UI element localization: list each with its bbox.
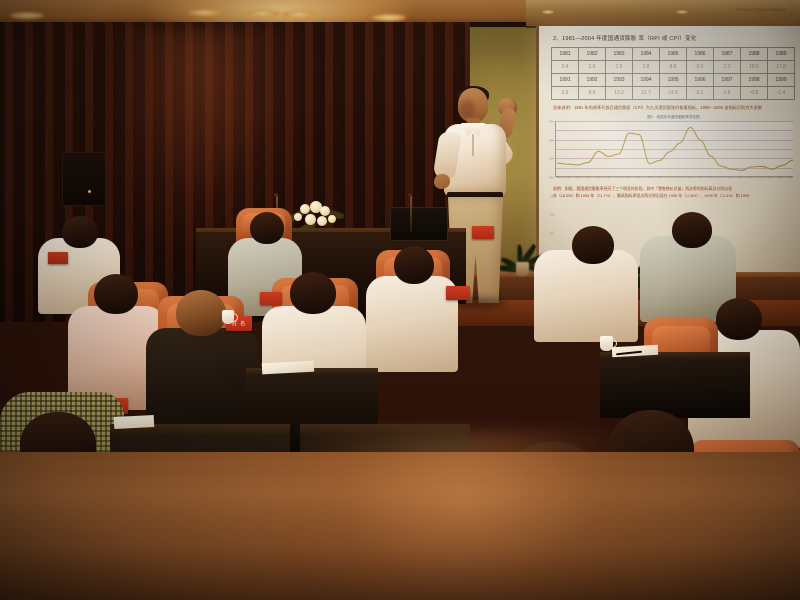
name-card xyxy=(48,252,68,264)
table-microphone xyxy=(410,196,412,232)
table-cell-year: 1992 xyxy=(579,74,606,87)
slide-note: 总体说明：1981 年的改革开放后通货膨胀（CPI）为九次通货膨胀的衡量指标。1… xyxy=(553,105,798,111)
chart-x-tick: 89 xyxy=(638,176,641,181)
table-cell-value: 2.4 xyxy=(552,61,579,74)
chart-x-tick: 94 xyxy=(688,176,691,181)
slide-footnote-line-2: 年（18.5%）和 1994 年（21.7%），最高指标率低点两次则出现在 19… xyxy=(553,193,798,199)
chart-y-tick: 15% xyxy=(549,158,554,161)
table-cell-value: 1.9 xyxy=(579,61,606,74)
table-row-years-1: 198119821983198419851986198719881989 xyxy=(552,48,795,61)
table-cell-value: 14.8 xyxy=(660,87,687,100)
table-row-values-2: 3.98.613.221.714.86.10.8-0.8-1.4 xyxy=(552,87,795,100)
conference-photo: PROJECTION SCREEN 2、1981—2004 年度国通货膨胀 率（… xyxy=(0,0,800,600)
table-cell-value: 3.9 xyxy=(552,87,579,100)
chart-x-tick: 02 xyxy=(769,176,772,181)
table-cell-value: 6.1 xyxy=(687,87,714,100)
table-cell-year: 1991 xyxy=(552,74,579,87)
chart-y-tick: 5% xyxy=(550,195,554,198)
chart-x-tick: 82 xyxy=(567,176,570,181)
chart-x-tick: 00 xyxy=(749,176,752,181)
table-cell-year: 1984 xyxy=(633,48,660,61)
chart-line-path xyxy=(556,121,794,177)
table-row-values-1: 2.41.91.52.88.86.07.318.517.8 xyxy=(552,61,795,74)
chart-x-tick: 91 xyxy=(658,176,661,181)
downlight xyxy=(10,12,44,19)
chart-x-tick: 87 xyxy=(618,176,621,181)
table-cell-year: 1999 xyxy=(768,74,795,87)
table-cell-year: 1981 xyxy=(552,48,579,61)
table-cell-value: 0.8 xyxy=(714,87,741,100)
chart-x-tick: 93 xyxy=(678,176,681,181)
downlight xyxy=(282,11,316,18)
chart-x-tick: 96 xyxy=(708,176,711,181)
table-cell-year: 1989 xyxy=(768,48,795,61)
screen-housing-label: PROJECTION SCREEN xyxy=(736,7,786,12)
name-card xyxy=(472,226,494,239)
table-cell-value: -0.8 xyxy=(741,87,768,100)
chart-x-tick: 01 xyxy=(759,176,762,181)
chart-y-tick: 10% xyxy=(549,177,554,180)
microphone-head-icon xyxy=(274,193,278,197)
chart-x-tick: 03 xyxy=(779,176,782,181)
table-cell-value: 21.7 xyxy=(633,87,660,100)
chart-x-tick: 97 xyxy=(719,176,722,181)
projection-screen-housing: PROJECTION SCREEN xyxy=(526,0,800,28)
chart-y-tick: 20% xyxy=(549,139,554,142)
chart-x-axis-labels: 8182838485868788899091929394959697989900… xyxy=(556,176,793,181)
table-cell-year: 1988 xyxy=(741,48,768,61)
table-cell-value: 8.8 xyxy=(660,61,687,74)
table-cell-year: 1996 xyxy=(687,74,714,87)
chart-x-tick: 84 xyxy=(587,176,590,181)
table-cell-value: 1.5 xyxy=(606,61,633,74)
slide-footnote-line-1: 说明：如图，我国通货膨胀率经历了三个明显的阶段，其中「零售物价总量」两次率的指标… xyxy=(553,186,798,192)
table-cell-year: 1983 xyxy=(606,48,633,61)
tea-mug xyxy=(222,310,234,324)
floral-centrepiece xyxy=(286,200,346,234)
chart-x-tick: 83 xyxy=(577,176,580,181)
presenter-face-shading xyxy=(459,100,475,118)
presenter-left-hand xyxy=(434,174,450,189)
table-cell-value: 13.2 xyxy=(606,87,633,100)
slide-heading: 2、1981—2004 年度国通货膨胀 率（RPI 或 CPI）变化 xyxy=(553,34,798,42)
name-card xyxy=(446,286,470,300)
carpet-light-pool xyxy=(300,430,630,600)
attendee-table-skirt xyxy=(600,358,750,418)
chart-x-tick: 95 xyxy=(698,176,701,181)
chart-x-tick: 88 xyxy=(628,176,631,181)
chart-y-tick: 0% xyxy=(550,214,554,217)
table-cell-value: 6.0 xyxy=(687,61,714,74)
name-card xyxy=(260,292,282,305)
handout-paper xyxy=(114,415,155,429)
table-cell-value: 18.5 xyxy=(741,61,768,74)
chart-x-tick: 98 xyxy=(729,176,732,181)
table-cell-year: 1987 xyxy=(714,48,741,61)
confidence-monitor xyxy=(390,207,448,241)
downlight xyxy=(188,9,222,16)
presenter-shirt-placket xyxy=(472,134,474,156)
chart-x-tick: 86 xyxy=(607,176,610,181)
table-cell-value: -1.4 xyxy=(768,87,795,100)
table-cell-value: 8.6 xyxy=(579,87,606,100)
chart-y-tick: 25% xyxy=(549,121,554,124)
downlight xyxy=(372,14,406,21)
chart-x-tick: 90 xyxy=(648,176,651,181)
table-row-years-2: 199119921993199419951996199719981999 xyxy=(552,74,795,87)
table-cell-year: 1998 xyxy=(741,74,768,87)
table-cell-year: 1994 xyxy=(633,74,660,87)
table-cell-year: 1995 xyxy=(660,74,687,87)
chart-x-tick: 92 xyxy=(668,176,671,181)
table-cell-value: 2.8 xyxy=(633,61,660,74)
inflation-rate-table: 198119821983198419851986198719881989 2.4… xyxy=(551,47,795,100)
chart-x-tick: 99 xyxy=(739,176,742,181)
tea-mug xyxy=(600,336,613,351)
pa-speaker-led-icon xyxy=(88,190,91,193)
table-cell-year: 1986 xyxy=(687,48,714,61)
table-cell-value: 7.3 xyxy=(714,61,741,74)
chart-x-tick: 81 xyxy=(557,176,560,181)
microphone-head-icon xyxy=(408,193,412,197)
table-cell-year: 1982 xyxy=(579,48,606,61)
chart-title: 图1：我国历年通货膨胀率变化图 xyxy=(549,115,798,120)
downlight xyxy=(246,10,280,17)
table-cell-value: 17.8 xyxy=(768,61,795,74)
table-cell-year: 1997 xyxy=(714,74,741,87)
chart-x-tick: 85 xyxy=(597,176,600,181)
table-cell-year: 1985 xyxy=(660,48,687,61)
inflation-line-chart: 25%20%15%10%5%0%-5% 81828384858687888990… xyxy=(555,121,793,177)
chart-x-tick: 04 xyxy=(789,176,792,181)
table-cell-year: 1993 xyxy=(606,74,633,87)
pa-speaker xyxy=(62,152,106,206)
